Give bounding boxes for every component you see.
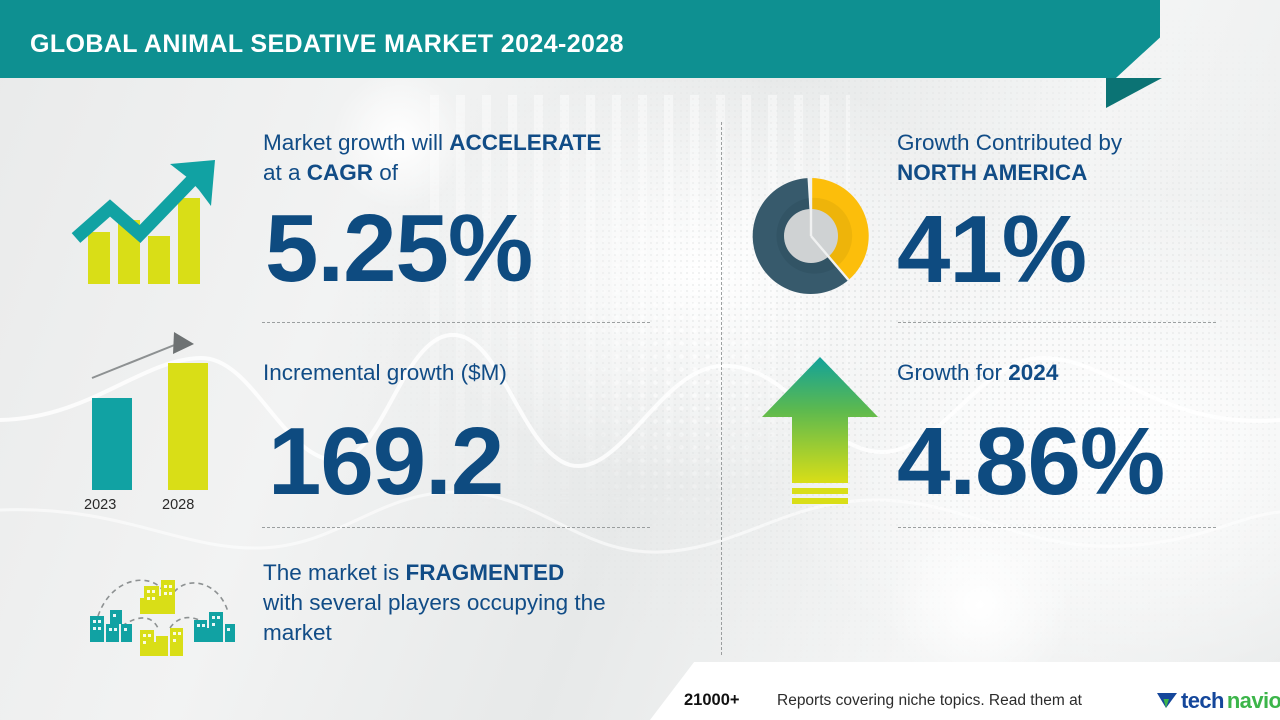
page-title: GLOBAL ANIMAL SEDATIVE MARKET 2024-2028 (30, 30, 624, 59)
growth-2024-value: 4.86% (897, 408, 1164, 516)
fragmented-caption-pre: The market is (263, 560, 406, 585)
north-america-value: 41% (897, 196, 1086, 304)
technavio-logo[interactable]: technavio™ (1156, 688, 1280, 714)
left-divider-2 (262, 527, 650, 528)
fragmented-caption-line2: with several players occupying the (263, 590, 606, 615)
logo-text-tech: tech (1181, 690, 1224, 712)
right-divider-1 (898, 322, 1216, 323)
growth-2024-caption-bold: 2024 (1008, 360, 1058, 385)
incremental-growth-label: Incremental growth ($M) (263, 358, 683, 388)
north-america-caption: Growth Contributed by NORTH AMERICA (897, 128, 1227, 188)
fragmented-caption-line3: market (263, 620, 332, 645)
cagr-caption: Market growth will ACCELERATE at a CAGR … (263, 128, 683, 188)
left-divider-1 (262, 322, 650, 323)
bar-label-2028: 2028 (162, 497, 194, 513)
cagr-value: 5.25% (265, 195, 532, 303)
cagr-caption-line2-pre: at a (263, 160, 307, 185)
growth-2024-caption: Growth for 2024 (897, 358, 1227, 388)
fragmented-caption: The market is FRAGMENTED with several pl… (263, 558, 693, 648)
incremental-growth-value: 169.2 (268, 408, 503, 516)
footer-tagline: Reports covering niche topics. Read them… (777, 692, 1082, 710)
technavio-arrow-logo-icon (1156, 691, 1178, 711)
cagr-caption-pre: Market growth will (263, 130, 449, 155)
donut-chart-icon (747, 172, 875, 300)
cagr-caption-line2-post: of (373, 160, 398, 185)
logo-text-navio: navio (1227, 690, 1280, 712)
reports-count: 21000+ (684, 691, 740, 710)
fragmented-caption-bold: FRAGMENTED (406, 560, 565, 585)
growth-arrow-bar-chart-icon (70, 150, 230, 290)
growth-2024-caption-pre: Growth for (897, 360, 1008, 385)
two-bar-comparison-icon (70, 330, 230, 520)
right-divider-2 (898, 527, 1216, 528)
fragmented-cities-network-icon (78, 558, 244, 662)
north-america-caption-bold: NORTH AMERICA (897, 160, 1087, 185)
north-america-caption-line1: Growth Contributed by (897, 130, 1122, 155)
up-arrow-icon (760, 355, 880, 510)
bar-label-2023: 2023 (84, 497, 116, 513)
infographic-canvas: GLOBAL ANIMAL SEDATIVE MARKET 2024-2028 … (0, 0, 1280, 720)
cagr-caption-bold: ACCELERATE (449, 130, 601, 155)
column-divider (721, 122, 722, 655)
cagr-caption-line2-bold: CAGR (307, 160, 373, 185)
